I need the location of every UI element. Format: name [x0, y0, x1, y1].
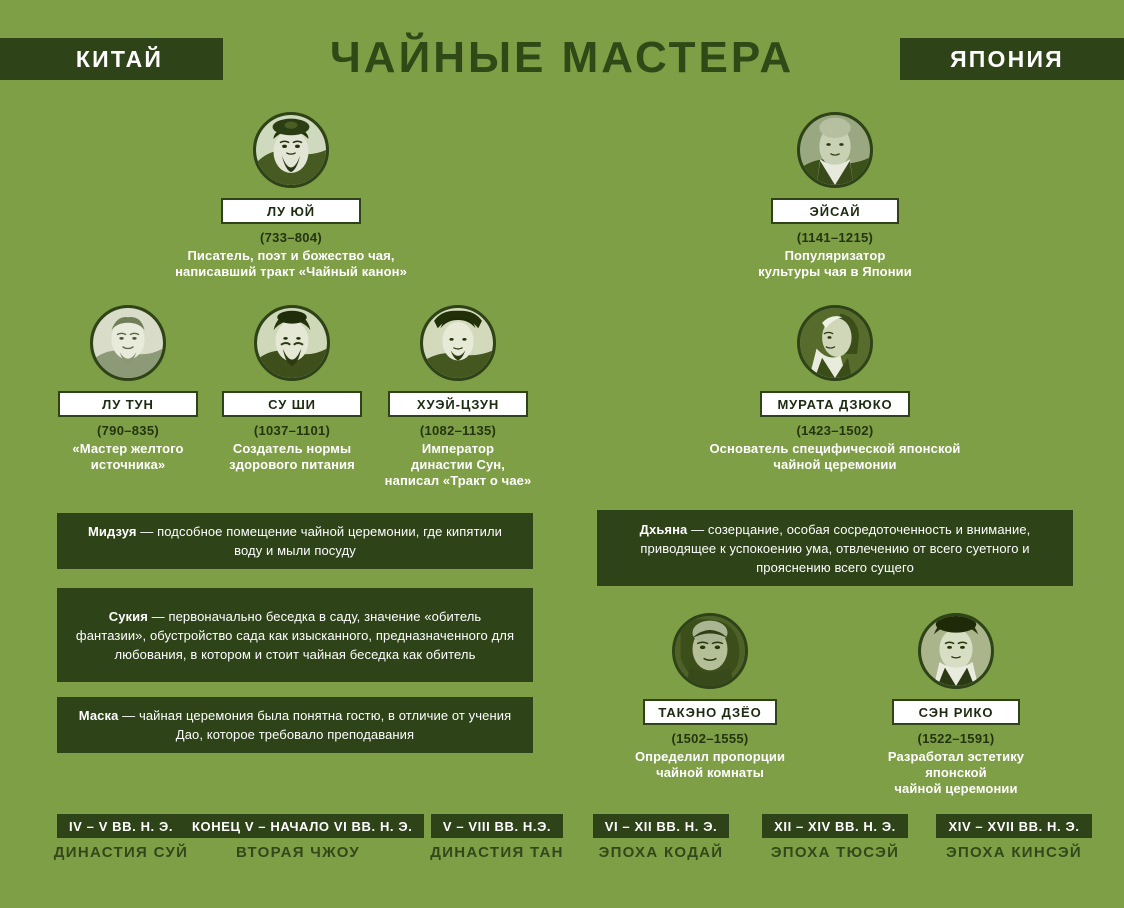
era-name-dinastiya-tan: ДИНАСТИЯ ТАН [406, 844, 588, 861]
years-su-shi: (1037–1101) [206, 423, 378, 438]
portrait-lu-yuy-image [256, 115, 326, 185]
nameplate-lu-yuy: ЛУ ЮЙ [221, 198, 361, 224]
years-eysay: (1141–1215) [700, 230, 970, 245]
note-term-sukiya: Сукия [109, 609, 148, 624]
banner-japan-label: ЯПОНИЯ [950, 46, 1064, 73]
note-term-midzuya: Мидзуя [88, 524, 137, 539]
portrait-eysay [797, 112, 873, 188]
nameplate-takeno-dzyoo: ТАКЭНО ДЗЁО [643, 699, 777, 725]
note-text-dhyana: — созерцание, особая сосредоточенность и… [640, 522, 1030, 575]
era-vtoraya-chzhou: КОНЕЦ V – НАЧАЛО VI ВВ. Н. Э. ВТОРАЯ ЧЖО… [180, 814, 416, 861]
note-box-sukiya: Сукия — первоначально беседка в саду, зн… [57, 588, 533, 682]
years-takeno-dzyoo: (1502–1555) [610, 731, 810, 746]
timeline: IV – V ВВ. Н. Э. ДИНАСТИЯ СУЙ КОНЕЦ V – … [0, 808, 1124, 878]
era-name-epoha-tyusey: ЭПОХА ТЮСЭЙ [742, 844, 928, 861]
portrait-eysay-image [800, 115, 870, 185]
era-epoha-kinsey: XIV – XVII ВВ. Н. Э. ЭПОХА КИНСЭЙ [918, 814, 1110, 861]
desc-huey-tszun: Император династии Сун, написал «Тракт о… [372, 441, 544, 489]
era-chip-epoha-koday: VI – XII ВВ. Н. Э. [593, 814, 730, 838]
person-card-su-shi: СУ ШИ (1037–1101) Создатель нормы здоров… [206, 305, 378, 473]
desc-lu-yuy: Писатель, поэт и божество чая, написавши… [156, 248, 426, 280]
era-name-epoha-kinsey: ЭПОХА КИНСЭЙ [918, 844, 1110, 861]
era-chip-epoha-tyusey: XII – XIV ВВ. Н. Э. [762, 814, 908, 838]
era-chip-dinastiya-suy: IV – V ВВ. Н. Э. [57, 814, 185, 838]
desc-eysay: Популяризатор культуры чая в Японии [700, 248, 970, 280]
portrait-sen-riko [918, 613, 994, 689]
era-epoha-koday: VI – XII ВВ. Н. Э. ЭПОХА КОДАЙ [570, 814, 752, 861]
person-card-sen-riko: СЭН РИКО (1522–1591) Разработал эстетику… [856, 613, 1056, 797]
person-card-takeno-dzyoo: ТАКЭНО ДЗЁО (1502–1555) Определил пропор… [610, 613, 810, 781]
years-lu-tun: (790–835) [42, 423, 214, 438]
years-huey-tszun: (1082–1135) [372, 423, 544, 438]
person-card-murata-dzyuko: МУРАТА ДЗЮКО (1423–1502) Основатель спец… [700, 305, 970, 473]
era-name-vtoraya-chzhou: ВТОРАЯ ЧЖОУ [180, 844, 416, 861]
nameplate-murata-dzyuko: МУРАТА ДЗЮКО [760, 391, 910, 417]
portrait-lu-tun-image [93, 308, 163, 378]
nameplate-su-shi: СУ ШИ [222, 391, 362, 417]
portrait-su-shi [254, 305, 330, 381]
header: КИТАЙ ЧАЙНЫЕ МАСТЕРА ЯПОНИЯ [0, 0, 1124, 96]
years-murata-dzyuko: (1423–1502) [700, 423, 970, 438]
note-box-dhyana: Дхьяна — созерцание, особая сосредоточен… [597, 510, 1073, 586]
desc-su-shi: Создатель нормы здорового питания [206, 441, 378, 473]
portrait-lu-tun [90, 305, 166, 381]
era-name-epoha-koday: ЭПОХА КОДАЙ [570, 844, 752, 861]
portrait-huey-tszun-image [423, 308, 493, 378]
person-card-eysay: ЭЙСАЙ (1141–1215) Популяризатор культуры… [700, 112, 970, 280]
portrait-su-shi-image [257, 308, 327, 378]
person-card-lu-tun: ЛУ ТУН (790–835) «Мастер желтого источни… [42, 305, 214, 473]
desc-lu-tun: «Мастер желтого источника» [42, 441, 214, 473]
infographic-root: КИТАЙ ЧАЙНЫЕ МАСТЕРА ЯПОНИЯ Л [0, 0, 1124, 908]
person-card-huey-tszun: ХУЭЙ-ЦЗУН (1082–1135) Император династии… [372, 305, 544, 489]
years-sen-riko: (1522–1591) [856, 731, 1056, 746]
nameplate-huey-tszun: ХУЭЙ-ЦЗУН [388, 391, 528, 417]
portrait-murata-dzyuko [797, 305, 873, 381]
note-term-dhyana: Дхьяна [640, 522, 688, 537]
person-card-lu-yuy: ЛУ ЮЙ (733–804) Писатель, поэт и божеств… [156, 112, 426, 280]
note-box-maska: Маска — чайная церемония была понятна го… [57, 697, 533, 753]
era-epoha-tyusey: XII – XIV ВВ. Н. Э. ЭПОХА ТЮСЭЙ [742, 814, 928, 861]
era-chip-vtoraya-chzhou: КОНЕЦ V – НАЧАЛО VI ВВ. Н. Э. [180, 814, 424, 838]
portrait-huey-tszun [420, 305, 496, 381]
desc-murata-dzyuko: Основатель специфической японской чайной… [700, 441, 970, 473]
portrait-takeno-dzyoo-image [675, 616, 745, 686]
nameplate-lu-tun: ЛУ ТУН [58, 391, 198, 417]
era-chip-dinastiya-tan: V – VIII ВВ. Н.Э. [431, 814, 563, 838]
banner-japan: ЯПОНИЯ [900, 38, 1124, 80]
portrait-murata-dzyuko-image [800, 308, 870, 378]
portrait-takeno-dzyoo [672, 613, 748, 689]
portrait-sen-riko-image [921, 616, 991, 686]
era-chip-epoha-kinsey: XIV – XVII ВВ. Н. Э. [936, 814, 1091, 838]
era-dinastiya-tan: V – VIII ВВ. Н.Э. ДИНАСТИЯ ТАН [406, 814, 588, 861]
nameplate-sen-riko: СЭН РИКО [892, 699, 1020, 725]
note-text-maska: — чайная церемония была понятна гостю, в… [118, 708, 511, 742]
note-text-midzuya: — подсобное помещение чайной церемонии, … [137, 524, 502, 558]
note-term-maska: Маска [79, 708, 119, 723]
desc-sen-riko: Разработал эстетику японской чайной цере… [856, 749, 1056, 797]
years-lu-yuy: (733–804) [156, 230, 426, 245]
note-box-midzuya: Мидзуя — подсобное помещение чайной цере… [57, 513, 533, 569]
desc-takeno-dzyoo: Определил пропорции чайной комнаты [610, 749, 810, 781]
nameplate-eysay: ЭЙСАЙ [771, 198, 899, 224]
portrait-lu-yuy [253, 112, 329, 188]
